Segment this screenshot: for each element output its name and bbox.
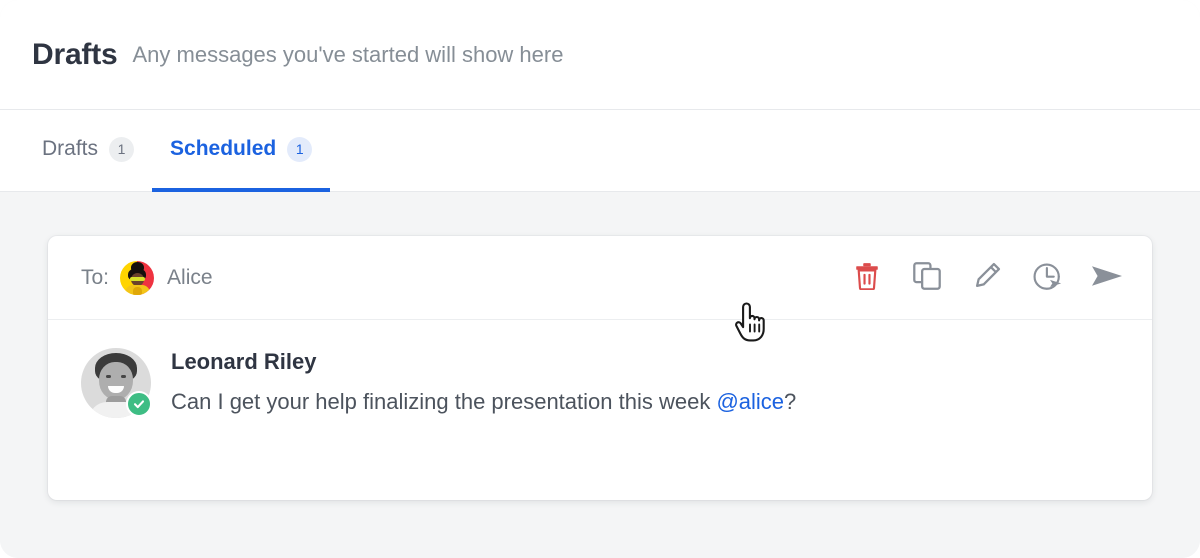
mention-alice[interactable]: @alice <box>716 389 784 414</box>
tab-scheduled[interactable]: Scheduled 1 <box>152 110 330 192</box>
message-text-after: ? <box>784 389 796 414</box>
reschedule-button[interactable] <box>1030 261 1064 295</box>
page-header: Drafts Any messages you've started will … <box>0 0 1200 110</box>
clock-send-icon <box>1032 261 1062 294</box>
trash-icon <box>854 262 880 293</box>
alice-avatar <box>120 261 154 295</box>
delete-draft-button[interactable] <box>850 261 884 295</box>
scheduled-list: To: Alice <box>0 192 1200 558</box>
tab-drafts-label: Drafts <box>42 137 98 161</box>
drafts-window: Drafts Any messages you've started will … <box>0 0 1200 558</box>
tab-drafts-badge: 1 <box>109 137 134 162</box>
send-now-button[interactable] <box>1090 261 1124 295</box>
card-action-bar <box>850 261 1124 295</box>
duplicate-draft-button[interactable] <box>910 261 944 295</box>
to-label: To: <box>81 266 109 290</box>
online-check-icon <box>126 391 152 417</box>
send-icon <box>1091 263 1123 292</box>
message-text-column: Leonard Riley Can I get your help finali… <box>171 348 796 418</box>
page-title: Drafts <box>32 40 118 70</box>
scheduled-message-card[interactable]: To: Alice <box>48 236 1152 500</box>
recipient-name: Alice <box>167 266 213 290</box>
pencil-icon <box>973 262 1001 293</box>
tab-bar: Drafts 1 Scheduled 1 <box>0 110 1200 192</box>
tab-scheduled-badge: 1 <box>287 137 312 162</box>
tab-drafts[interactable]: Drafts 1 <box>24 110 152 192</box>
sender-avatar-wrap <box>81 348 151 418</box>
edit-draft-button[interactable] <box>970 261 1004 295</box>
message-row: Leonard Riley Can I get your help finali… <box>48 320 1152 418</box>
sender-name: Leonard Riley <box>171 349 796 375</box>
message-body: Can I get your help finalizing the prese… <box>171 387 796 417</box>
card-header: To: Alice <box>48 236 1152 320</box>
tab-scheduled-label: Scheduled <box>170 137 276 161</box>
copy-icon <box>913 262 941 293</box>
message-text-before: Can I get your help finalizing the prese… <box>171 389 716 414</box>
page-subtitle: Any messages you've started will show he… <box>133 44 564 66</box>
